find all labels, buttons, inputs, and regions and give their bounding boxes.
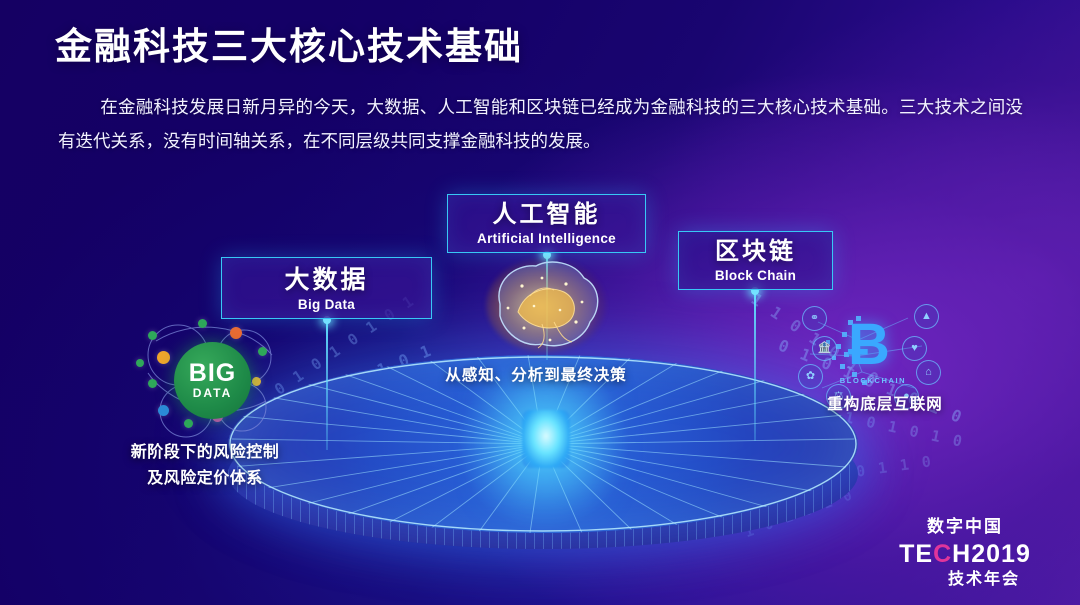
label-card-ai-en: Artificial Intelligence (448, 229, 645, 248)
bc-chart-icon: ▲ (914, 304, 939, 329)
brain-icon (484, 252, 608, 358)
bc-key-icon: ⚭ (802, 306, 827, 331)
bc-home-icon: ⌂ (916, 360, 941, 385)
event-logo: 数字中国 TECH2019 技术年会 (890, 515, 1040, 591)
bitcoin-b-icon: Ƀ (848, 316, 890, 374)
bc-handshake-icon: ♥ (902, 336, 927, 361)
label-card-block-chain[interactable]: 区块链 Block Chain (678, 231, 833, 290)
bigdata-node-icon (158, 405, 169, 416)
logo-line-annual-conference: 技术年会 (928, 569, 1040, 591)
bigdata-node-icon (184, 419, 193, 428)
logo-tech-suffix: H2019 (952, 540, 1031, 568)
logo-line-digital-china: 数字中国 (890, 515, 1040, 539)
label-card-ai[interactable]: 人工智能 Artificial Intelligence (447, 194, 646, 253)
caption-block-chain: 重构底层互联网 (790, 394, 980, 416)
label-card-ai-cn: 人工智能 (448, 200, 645, 229)
body-paragraph: 在金融科技发展日新月异的今天，大数据、人工智能和区块链已经成为金融科技的三大核心… (58, 90, 1023, 158)
label-card-big-data-cn: 大数据 (222, 265, 431, 295)
big-data-badge-bottom: DATA (193, 386, 233, 400)
brain-illustration (484, 252, 608, 358)
platform-disc (228, 355, 858, 570)
bc-leaf-icon: ✿ (798, 364, 823, 389)
big-data-illustration: BIG DATA (126, 315, 296, 445)
caption-ai: 从感知、分析到最终决策 (436, 365, 636, 387)
bigdata-node-icon (198, 319, 207, 328)
connector-stem-block-chain (754, 291, 756, 441)
caption-big-data-line2: 及风险定价体系 (96, 466, 314, 492)
logo-line-tech2019: TECH2019 (890, 539, 1040, 569)
bc-bank-icon: 🏦 (812, 336, 837, 361)
bigdata-node-icon (157, 351, 170, 364)
bigdata-node-icon (230, 327, 242, 339)
logo-tech-prefix: TE (899, 540, 933, 568)
page-title: 金融科技三大核心技术基础 (55, 16, 523, 70)
label-card-big-data[interactable]: 大数据 Big Data (221, 257, 432, 319)
label-card-big-data-en: Big Data (222, 295, 431, 314)
bigdata-node-icon (148, 379, 157, 388)
logo-tech-c-swoosh: C (933, 540, 952, 568)
label-card-block-chain-cn: 区块链 (679, 237, 832, 266)
big-data-badge-top: BIG (189, 361, 236, 386)
bigdata-node-icon (252, 377, 261, 386)
connector-stem-big-data (326, 320, 328, 450)
bigdata-node-icon (258, 347, 267, 356)
caption-big-data-line1: 新阶段下的风险控制 (96, 440, 314, 466)
caption-big-data: 新阶段下的风险控制 及风险定价体系 (96, 440, 314, 492)
body-paragraph-text: 在金融科技发展日新月异的今天，大数据、人工智能和区块链已经成为金融科技的三大核心… (58, 97, 1023, 151)
slide-canvas: 0 1 0 1 0 1 0 1 1 0 1 0 1 0 1 0 1 1 0 1 … (0, 0, 1080, 605)
disc-core-glow (522, 410, 570, 468)
label-card-block-chain-en: Block Chain (679, 266, 832, 285)
bigdata-node-icon (148, 331, 157, 340)
big-data-badge: BIG DATA (174, 342, 251, 419)
bigdata-node-icon (136, 359, 144, 367)
